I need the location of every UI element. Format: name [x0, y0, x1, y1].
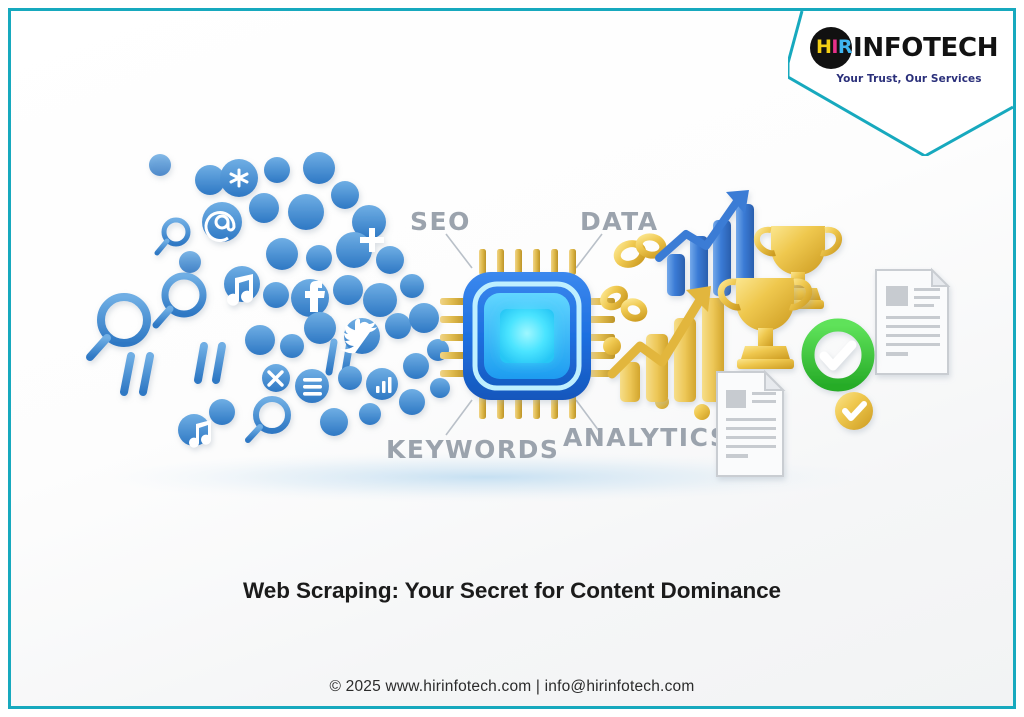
magnifier-icon [248, 399, 288, 440]
icon-disc [149, 152, 450, 446]
hashtag-icon [189, 346, 229, 380]
magnifier-icon [156, 276, 203, 325]
page-title: Web Scraping: Your Secret for Content Do… [0, 578, 1024, 604]
logo-row: HIR INFOTECH [810, 26, 1000, 70]
logo-letter-i: I [831, 36, 838, 58]
logo-letter-h: H [816, 36, 831, 58]
document-icon [717, 372, 783, 476]
magnifier-icon [157, 220, 188, 253]
hir-logo-mark-icon: HIR [810, 26, 856, 70]
logo: HIR INFOTECH Your Trust, Our Services [810, 26, 1000, 85]
logo-tagline: Your Trust, Our Services [818, 73, 1000, 85]
label-keywords: KEYWORDS [386, 435, 559, 464]
logo-mark-letters: HIR [814, 37, 854, 57]
logo-letter-r: R [838, 36, 852, 58]
label-seo: SEO [410, 207, 471, 236]
hero-illustration: SEO DATA KEYWORDS ANALYTICS [14, 150, 1010, 550]
leader-seo [446, 234, 472, 268]
blue-bar-1 [667, 254, 685, 296]
footer-copyright: © 2025 www.hirinfotech.com | info@hirinf… [0, 678, 1024, 696]
green-check-icon [808, 325, 868, 385]
gold-rings [601, 235, 665, 321]
gold-check-icon [835, 392, 873, 430]
document-icon [876, 270, 948, 374]
label-data: DATA [580, 207, 659, 236]
label-analytics: ANALYTICS [563, 423, 729, 452]
gold-bar-2 [646, 334, 668, 402]
logo-wordmark: INFOTECH [853, 26, 998, 70]
social-icon-cloud [90, 152, 450, 448]
chip-core [500, 309, 554, 363]
hashtag-icon [115, 356, 157, 392]
leader-keywords [446, 400, 472, 435]
list-icon [303, 378, 322, 396]
poster-root: HIR INFOTECH Your Trust, Our Services [0, 0, 1024, 717]
magnifier-icon [90, 297, 147, 357]
cpu-chip [440, 249, 615, 419]
leader-data [576, 234, 602, 268]
